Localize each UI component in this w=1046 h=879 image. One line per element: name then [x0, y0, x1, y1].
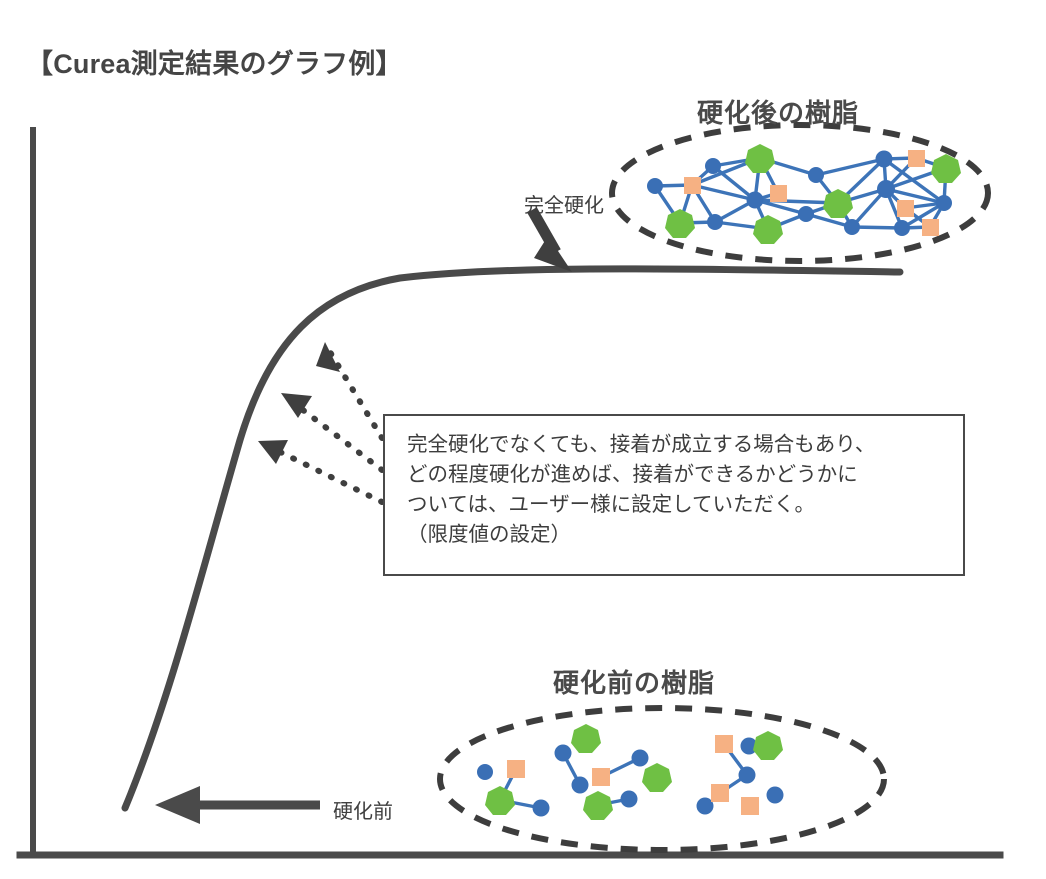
node-blue [621, 791, 638, 808]
node-blue [876, 151, 893, 168]
node-blue [477, 764, 493, 780]
node-orange [922, 219, 939, 236]
node-orange [592, 768, 610, 786]
note-line: どの程度硬化が進めば、接着ができるかどうかに [407, 460, 945, 490]
node-orange [908, 150, 925, 167]
note-line: ついては、ユーザー様に設定していただく。 [407, 490, 945, 520]
node-blue [798, 206, 814, 222]
node-orange [770, 185, 787, 202]
node-blue [808, 167, 824, 183]
diagram-canvas: 【Curea測定結果のグラフ例】 [0, 0, 1046, 879]
node-blue [707, 214, 723, 230]
node-blue [936, 195, 952, 211]
node-orange [741, 797, 759, 815]
cluster-after-label: 硬化後の樹脂 [697, 93, 859, 130]
node-blue [632, 750, 649, 767]
node-green [753, 215, 783, 244]
node-green [665, 209, 695, 238]
node-green [571, 724, 601, 753]
node-green [745, 144, 775, 173]
node-blue [647, 178, 663, 194]
node-orange [715, 735, 733, 753]
node-blue [533, 800, 550, 817]
dotted-arrow-bottom [258, 440, 382, 502]
full-cure-label: 完全硬化 [524, 189, 604, 218]
full-cure-arrow [532, 210, 572, 272]
node-blue [739, 767, 756, 784]
note-line: 完全硬化でなくても、接着が成立する場合もあり、 [407, 430, 945, 460]
node-green [583, 791, 613, 820]
before-cure-label: 硬化前 [333, 795, 393, 824]
dotted-callout-arrows [258, 342, 382, 502]
cluster-after-group [612, 125, 988, 261]
dotted-arrow-top [316, 342, 382, 438]
before-cure-arrow [155, 786, 320, 824]
node-blue [572, 777, 589, 794]
node-green [485, 786, 515, 815]
node-orange [897, 200, 914, 217]
node-blue [555, 745, 572, 762]
node-green [753, 731, 783, 760]
node-green [642, 763, 672, 792]
node-blue [767, 787, 784, 804]
node-orange [507, 760, 525, 778]
node-blue [877, 180, 895, 198]
node-blue [844, 219, 860, 235]
node-orange [711, 784, 729, 802]
node-orange [684, 177, 701, 194]
node-blue [697, 798, 714, 815]
node-green [931, 154, 961, 183]
cluster-before-label: 硬化前の樹脂 [553, 663, 715, 700]
cluster-before-group [440, 708, 884, 850]
note-line: （限度値の設定） [407, 520, 945, 550]
explanation-note-box: 完全硬化でなくても、接着が成立する場合もあり、 どの程度硬化が進めば、接着ができ… [383, 414, 965, 576]
node-blue [894, 220, 910, 236]
node-blue [705, 158, 721, 174]
node-blue [747, 192, 764, 209]
